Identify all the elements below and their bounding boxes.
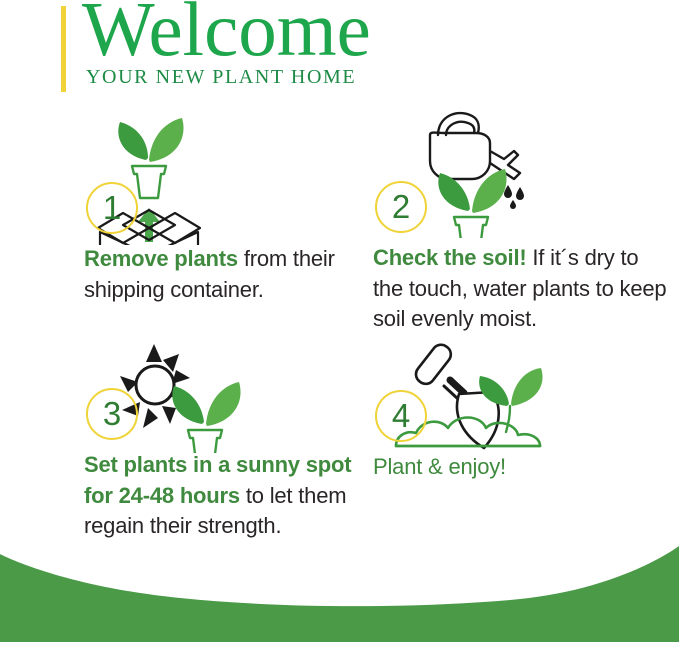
step-number-3: 3	[103, 397, 121, 430]
step-text-4: Plant & enjoy!	[373, 452, 673, 483]
header-accent-bar	[61, 6, 66, 92]
step-highlight-4: Plant & enjoy!	[373, 454, 506, 479]
step-text-3: Set plants in a sunny spot for 24-48 hou…	[84, 450, 384, 542]
step-number-2: 2	[392, 190, 410, 223]
page-title: Welcome	[82, 0, 371, 68]
step-highlight-1: Remove plants	[84, 246, 238, 271]
header: Welcome YOUR NEW PLANT HOME	[0, 0, 679, 105]
step-text-1: Remove plants from their shipping contai…	[84, 244, 384, 305]
step-number-4: 4	[392, 399, 410, 432]
step-number-1: 1	[103, 191, 121, 224]
step-number-badge-4: 4	[375, 390, 427, 442]
step-number-badge-1: 1	[86, 182, 138, 234]
step-number-badge-3: 3	[86, 388, 138, 440]
footer-curve	[0, 530, 679, 642]
step-highlight-2: Check the soil!	[373, 245, 526, 270]
page-subtitle: YOUR NEW PLANT HOME	[86, 66, 356, 88]
step-text-2: Check the soil! If it´s dry to the touch…	[373, 243, 673, 335]
step-number-badge-2: 2	[375, 181, 427, 233]
